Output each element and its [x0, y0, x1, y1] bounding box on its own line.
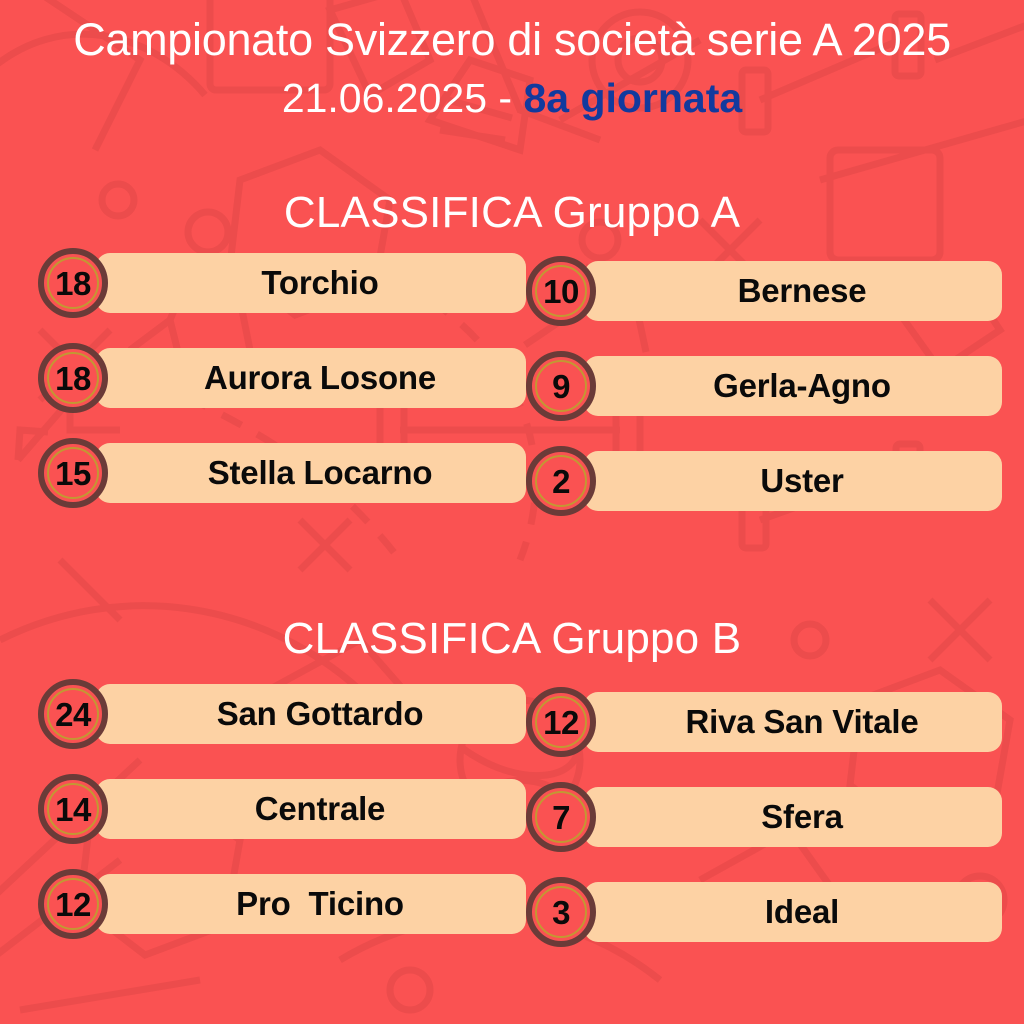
group-a-title: CLASSIFICA Gruppo A — [0, 186, 1024, 240]
team-name: Bernese — [738, 272, 867, 310]
standings-row[interactable]: 18 Aurora Losone — [38, 348, 526, 408]
page-title: Campionato Svizzero di società serie A 2… — [0, 12, 1024, 68]
team-name: Aurora Losone — [204, 359, 436, 397]
standings-row[interactable]: 12 Pro Ticino — [38, 874, 526, 934]
points-value: 24 — [55, 698, 91, 731]
standings-row[interactable]: 24 San Gottardo — [38, 684, 526, 744]
points-badge: 7 — [526, 782, 596, 852]
group-a-standings: 18 Torchio 18 Aurora Losone 15 Stella Lo… — [0, 253, 1024, 546]
standings-row[interactable]: 9 Gerla-Agno — [526, 356, 1002, 416]
team-name: Uster — [760, 462, 843, 500]
team-name: Riva San Vitale — [685, 703, 918, 741]
standings-row[interactable]: 15 Stella Locarno — [38, 443, 526, 503]
standings-row[interactable]: 7 Sfera — [526, 787, 1002, 847]
subtitle-date: 21.06.2025 - — [282, 75, 524, 121]
points-badge: 9 — [526, 351, 596, 421]
points-badge: 3 — [526, 877, 596, 947]
group-b-left-column: 24 San Gottardo 14 Centrale 12 Pro Ticin… — [38, 684, 526, 977]
team-name: Pro Ticino — [236, 885, 404, 923]
points-value: 12 — [543, 706, 579, 739]
points-value: 15 — [55, 457, 91, 490]
team-bar: Torchio — [96, 253, 526, 313]
points-badge: 15 — [38, 438, 108, 508]
team-name: Torchio — [261, 264, 378, 302]
subtitle-round: 8a giornata — [523, 75, 742, 121]
points-badge: 24 — [38, 679, 108, 749]
team-name: Centrale — [255, 790, 385, 828]
standings-row[interactable]: 10 Bernese — [526, 261, 1002, 321]
group-b-title: CLASSIFICA Gruppo B — [0, 612, 1024, 666]
team-bar: Sfera — [584, 787, 1002, 847]
team-bar: Ideal — [584, 882, 1002, 942]
group-a-right-column: 10 Bernese 9 Gerla-Agno 2 Uster — [526, 253, 1002, 546]
team-bar: Stella Locarno — [96, 443, 526, 503]
points-value: 2 — [552, 465, 570, 498]
subtitle: 21.06.2025 - 8a giornata — [0, 72, 1024, 124]
points-value: 9 — [552, 370, 570, 403]
points-badge: 14 — [38, 774, 108, 844]
points-value: 7 — [552, 801, 570, 834]
group-b-right-column: 12 Riva San Vitale 7 Sfera 3 Ideal — [526, 684, 1002, 977]
standings-row[interactable]: 18 Torchio — [38, 253, 526, 313]
team-bar: Bernese — [584, 261, 1002, 321]
team-name: Gerla-Agno — [713, 367, 891, 405]
points-value: 10 — [543, 275, 579, 308]
points-value: 3 — [552, 896, 570, 929]
points-value: 12 — [55, 888, 91, 921]
team-name: Sfera — [761, 798, 843, 836]
points-badge: 18 — [38, 248, 108, 318]
points-badge: 12 — [38, 869, 108, 939]
points-value: 18 — [55, 267, 91, 300]
standings-row[interactable]: 14 Centrale — [38, 779, 526, 839]
points-badge: 12 — [526, 687, 596, 757]
standings-row[interactable]: 2 Uster — [526, 451, 1002, 511]
team-bar: Uster — [584, 451, 1002, 511]
team-name: Stella Locarno — [208, 454, 433, 492]
team-bar: Pro Ticino — [96, 874, 526, 934]
header: Campionato Svizzero di società serie A 2… — [0, 0, 1024, 124]
team-bar: Centrale — [96, 779, 526, 839]
points-value: 14 — [55, 793, 91, 826]
team-name: San Gottardo — [217, 695, 424, 733]
team-name: Ideal — [765, 893, 839, 931]
points-badge: 2 — [526, 446, 596, 516]
team-bar: Riva San Vitale — [584, 692, 1002, 752]
standings-row[interactable]: 3 Ideal — [526, 882, 1002, 942]
team-bar: Aurora Losone — [96, 348, 526, 408]
group-b-standings: 24 San Gottardo 14 Centrale 12 Pro Ticin… — [0, 684, 1024, 977]
points-value: 18 — [55, 362, 91, 395]
points-badge: 10 — [526, 256, 596, 326]
points-badge: 18 — [38, 343, 108, 413]
team-bar: Gerla-Agno — [584, 356, 1002, 416]
standings-row[interactable]: 12 Riva San Vitale — [526, 692, 1002, 752]
group-a-left-column: 18 Torchio 18 Aurora Losone 15 Stella Lo… — [38, 253, 526, 546]
team-bar: San Gottardo — [96, 684, 526, 744]
